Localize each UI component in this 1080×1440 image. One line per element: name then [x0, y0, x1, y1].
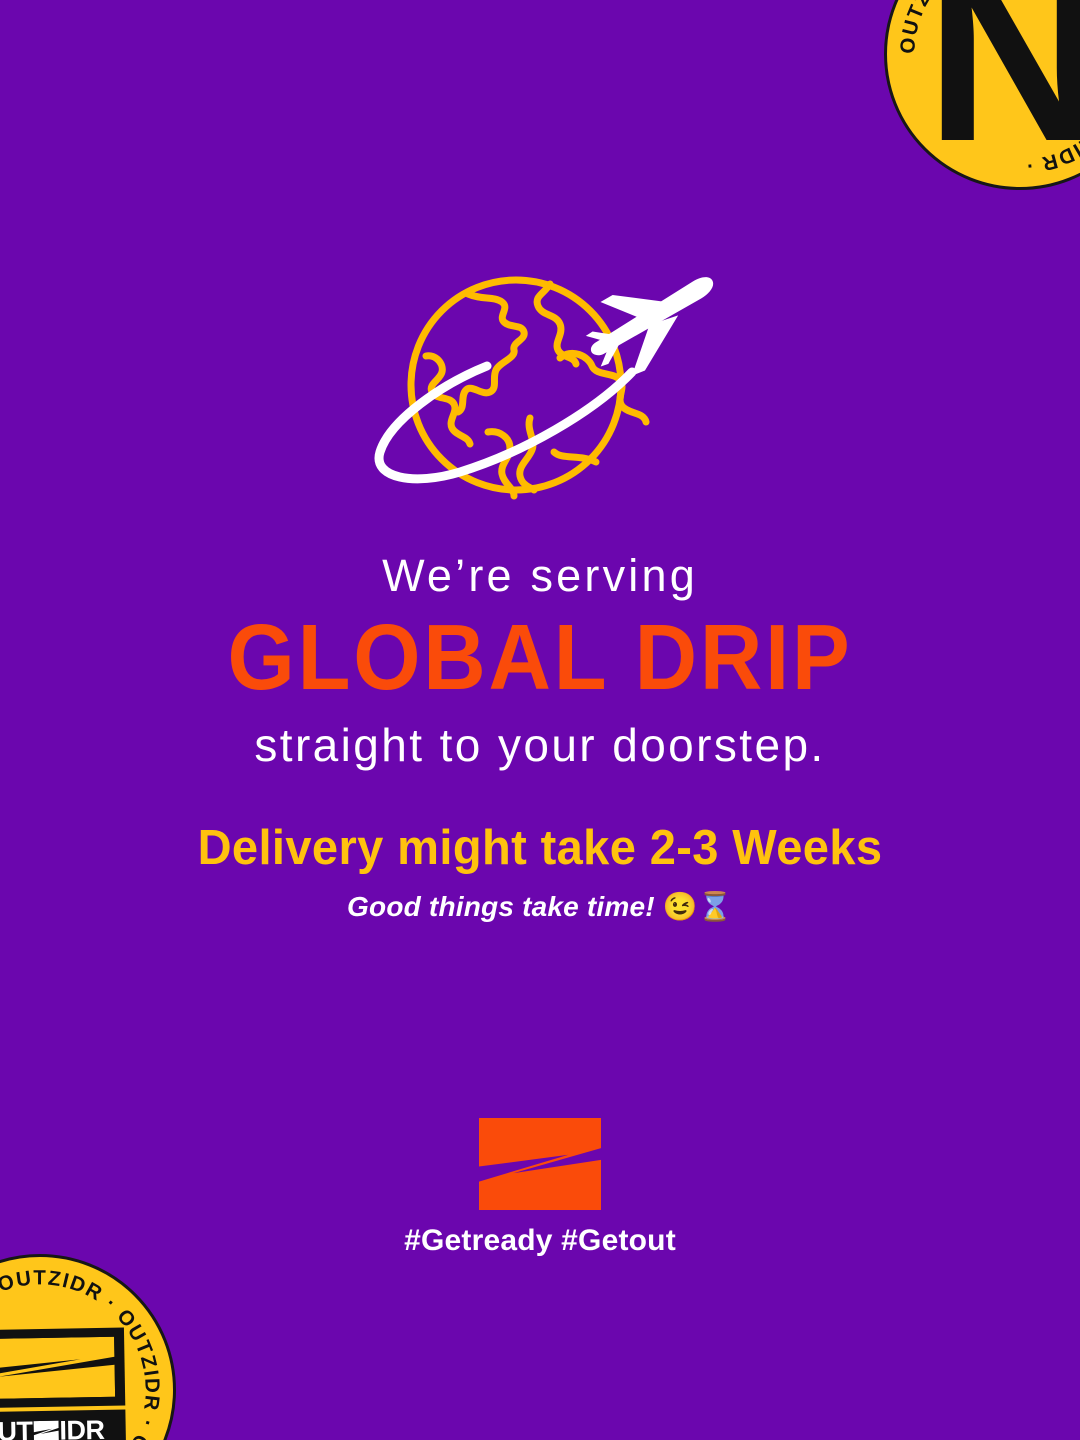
delivery-note: Good things take time! 😉⌛	[0, 890, 1080, 924]
poster-canvas: OUTZIDR · OUTZIDR · OUTZIDR · OUTZIDR · …	[0, 0, 1080, 1440]
z-logo-icon	[0, 1337, 115, 1400]
z-glyph-icon	[33, 1420, 58, 1440]
delivery-headline: Delivery might take 2-3 Weeks	[22, 822, 1059, 876]
kicker-text: We’re serving	[40, 552, 1040, 601]
badge-core-wordmark: OUT IDR	[0, 1410, 126, 1440]
wordmark-suffix: IDR	[59, 1416, 104, 1440]
badge-core-z-plate	[0, 1328, 125, 1409]
delivery-notice-block: Delivery might take 2-3 Weeks Good thing…	[0, 822, 1080, 923]
globe-icon	[364, 272, 716, 504]
badge-letter-mark-n: N	[925, 0, 1080, 179]
delivery-note-text: Good things take time!	[347, 891, 655, 922]
badge-bottom-left: OUTZIDR · OUTZIDR · OUTZIDR · OUTZIDR · …	[0, 1254, 176, 1440]
page-title: GLOBAL DRIP	[75, 611, 1005, 704]
globe-airplane-illustration	[0, 272, 1080, 504]
wordmark-prefix: OUT	[0, 1418, 33, 1440]
badge-core-lockup: OUT IDR	[0, 1328, 126, 1440]
hashtags-text: #Getready #Getout	[0, 1224, 1080, 1258]
badge-top-right: OUTZIDR · OUTZIDR · OUTZIDR · OUTZIDR · …	[884, 0, 1080, 190]
subline-text: straight to your doorstep.	[40, 720, 1040, 771]
headline-block: We’re serving GLOBAL DRIP straight to yo…	[0, 552, 1080, 770]
footer-lockup: #Getready #Getout	[0, 1118, 1080, 1258]
delivery-note-emoji: 😉⌛	[663, 891, 733, 922]
outzidr-z-logo-icon	[479, 1118, 601, 1210]
